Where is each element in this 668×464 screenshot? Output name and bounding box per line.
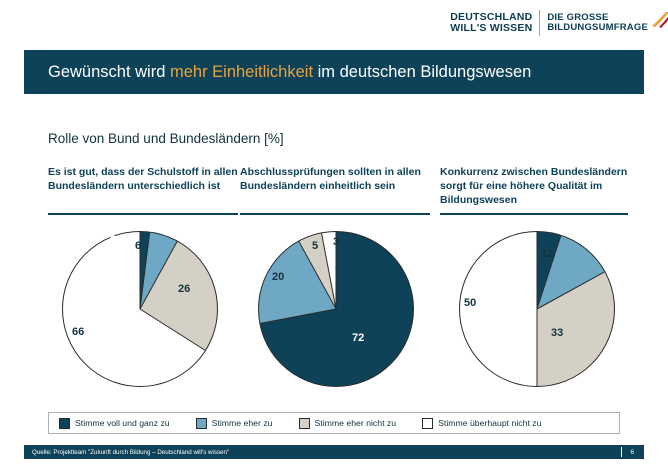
legend-item-1: Stimme voll und ganz zu [59, 418, 170, 429]
logo-line-4: BILDUNGSUMFRAGE [547, 23, 648, 33]
logo-left-text: DEUTSCHLAND WILL'S WISSEN [450, 12, 532, 34]
pie-1-value-1: 2 [110, 234, 116, 246]
legend-item-2: Stimme eher zu [196, 418, 273, 429]
pie-chart-1 [62, 231, 218, 387]
legend-label-1: Stimme voll und ganz zu [75, 418, 170, 428]
footer-page-number: 6 [631, 449, 644, 456]
legend-swatch-4 [422, 418, 433, 429]
legend-swatch-2 [196, 418, 207, 429]
page-title: Gewünscht wird mehr Einheitlichkeit im d… [24, 63, 531, 82]
title-band: Gewünscht wird mehr Einheitlichkeit im d… [24, 50, 644, 94]
title-highlight: mehr Einheitlichkeit [170, 63, 313, 81]
pie-separators [258, 231, 414, 387]
logo-divider [539, 10, 540, 36]
legend-label-4: Stimme überhaupt nicht zu [438, 418, 541, 428]
footer-source: Quelle: Projektteam "Zukunft durch Bildu… [24, 449, 229, 456]
chart-legend: Stimme voll und ganz zuStimme eher zuSti… [48, 412, 620, 434]
pie-separators [62, 231, 218, 387]
legend-item-4: Stimme überhaupt nicht zu [422, 418, 541, 429]
legend-item-3: Stimme eher nicht zu [299, 418, 397, 429]
pie-2-value-2: 20 [272, 271, 284, 283]
footer-divider [621, 447, 622, 457]
chart-panel-2: Abschlussprüfungen sollten in allen Bund… [240, 166, 430, 215]
logo-line-2: WILL'S WISSEN [450, 23, 532, 34]
legend-label-2: Stimme eher zu [212, 418, 273, 428]
footer-bar: Quelle: Projektteam "Zukunft durch Bildu… [24, 445, 644, 459]
title-after: im deutschen Bildungswesen [313, 63, 531, 81]
legend-swatch-3 [299, 418, 310, 429]
swoosh-icon [650, 11, 668, 29]
panel-3-title: Konkurrenz zwischen Bundesländern sorgt … [440, 166, 630, 210]
pie-2-value-1: 72 [352, 332, 364, 344]
chart-panel-3: Konkurrenz zwischen Bundesländern sorgt … [440, 166, 630, 215]
brand-logo: DEUTSCHLAND WILL'S WISSEN DIE GROSSE BIL… [450, 10, 650, 36]
slide: DEUTSCHLAND WILL'S WISSEN DIE GROSSE BIL… [0, 0, 668, 464]
pie-1-value-3: 26 [178, 283, 190, 295]
chart-panel-1: Es ist gut, dass der Schulstoff in allen… [48, 166, 238, 215]
pie-2-value-3: 5 [312, 240, 318, 252]
panel-1-rule [48, 213, 238, 215]
panel-1-title: Es ist gut, dass der Schulstoff in allen… [48, 166, 238, 210]
pie-1-value-2: 6 [135, 240, 141, 252]
panel-3-rule [440, 213, 628, 215]
pie-3-value-2: 12 [541, 248, 553, 260]
panel-2-rule [240, 213, 430, 215]
pie-2-value-4: 3 [333, 236, 339, 248]
chart-subtitle: Rolle von Bund und Bundesländern [%] [48, 131, 284, 146]
pie-chart-2 [258, 231, 414, 387]
logo-right-text: DIE GROSSE BILDUNGSUMFRAGE [547, 13, 650, 33]
pie-3-value-1: 5 [512, 234, 518, 246]
pie-chart-3 [459, 231, 615, 387]
panel-2-title: Abschlussprüfungen sollten in allen Bund… [240, 166, 430, 210]
title-before: Gewünscht wird [48, 63, 170, 81]
pie-1-value-4: 66 [72, 326, 84, 338]
pie-3-value-3: 33 [551, 327, 563, 339]
pie-3-value-4: 50 [464, 297, 476, 309]
legend-swatch-1 [59, 418, 70, 429]
legend-label-3: Stimme eher nicht zu [315, 418, 397, 428]
pie-separators [459, 231, 615, 387]
